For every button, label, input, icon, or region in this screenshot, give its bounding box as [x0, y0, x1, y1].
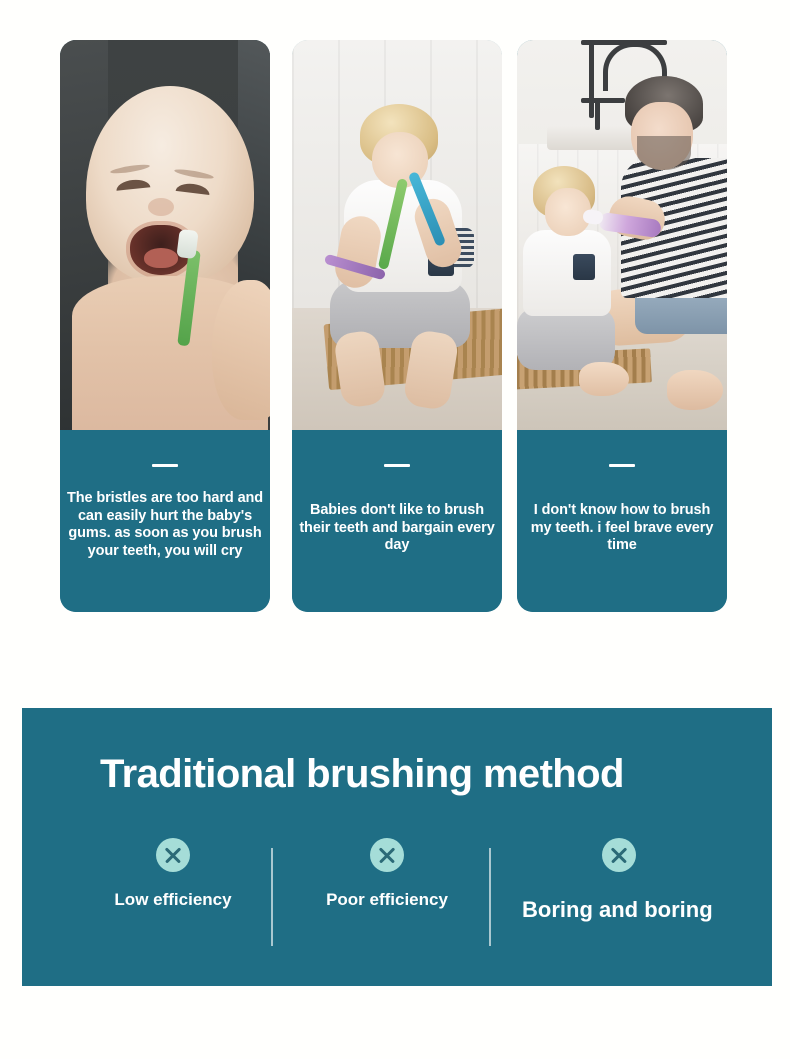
caption-divider-dash [384, 464, 410, 467]
x-mark-icon [602, 838, 636, 872]
faucet-stem-shape [589, 42, 594, 118]
caption-divider-dash [609, 464, 635, 467]
son-foot-shape [579, 362, 629, 396]
caption-divider-dash [152, 464, 178, 467]
feature-item-low-efficiency: Low efficiency [108, 838, 238, 910]
card-caption-text: I don't know how to brush my teeth. i fe… [523, 502, 721, 555]
banner-title: Traditional brushing method [100, 752, 624, 797]
son-shirt-pocket-shape [573, 254, 595, 280]
problem-cards-row: The bristles are too hard and can easily… [0, 0, 790, 640]
faucet-crossbar-shape [581, 98, 625, 103]
feature-label: Poor efficiency [322, 890, 452, 910]
x-mark-icon [370, 838, 404, 872]
adult-hand-shape [212, 280, 270, 420]
father-beard-shape [637, 136, 691, 170]
boy-holding-toothbrushes-photo [292, 40, 502, 430]
son-pants-shape [517, 308, 615, 370]
card-caption-panel: Babies don't like to brush their teeth a… [292, 430, 502, 612]
card-caption-text: The bristles are too hard and can easily… [66, 490, 264, 560]
feature-item-boring: Boring and boring [522, 838, 772, 922]
feature-label: Boring and boring [522, 898, 772, 922]
son-shirt-shape [523, 230, 611, 316]
banner-feature-list: Low efficiency Poor efficiency Boring an… [22, 838, 772, 950]
faucet-spout-shape [595, 100, 600, 130]
feature-item-poor-efficiency: Poor efficiency [322, 838, 452, 910]
problem-card[interactable]: I don't know how to brush my teeth. i fe… [517, 40, 727, 612]
problem-card[interactable]: Babies don't like to brush their teeth a… [292, 40, 502, 612]
x-mark-icon [156, 838, 190, 872]
problem-card[interactable]: The bristles are too hard and can easily… [60, 40, 270, 612]
card-caption-panel: The bristles are too hard and can easily… [60, 430, 270, 612]
baby-nose-shape [148, 198, 174, 216]
feature-label: Low efficiency [108, 890, 238, 910]
green-toothbrush-head-shape [176, 229, 198, 259]
father-foot-shape [667, 370, 723, 410]
card-caption-text: Babies don't like to brush their teeth a… [298, 502, 496, 555]
card-caption-panel: I don't know how to brush my teeth. i fe… [517, 430, 727, 612]
baby-tongue-shape [144, 248, 178, 268]
crying-baby-with-toothbrush-photo [60, 40, 270, 430]
father-and-son-brushing-photo [517, 40, 727, 430]
